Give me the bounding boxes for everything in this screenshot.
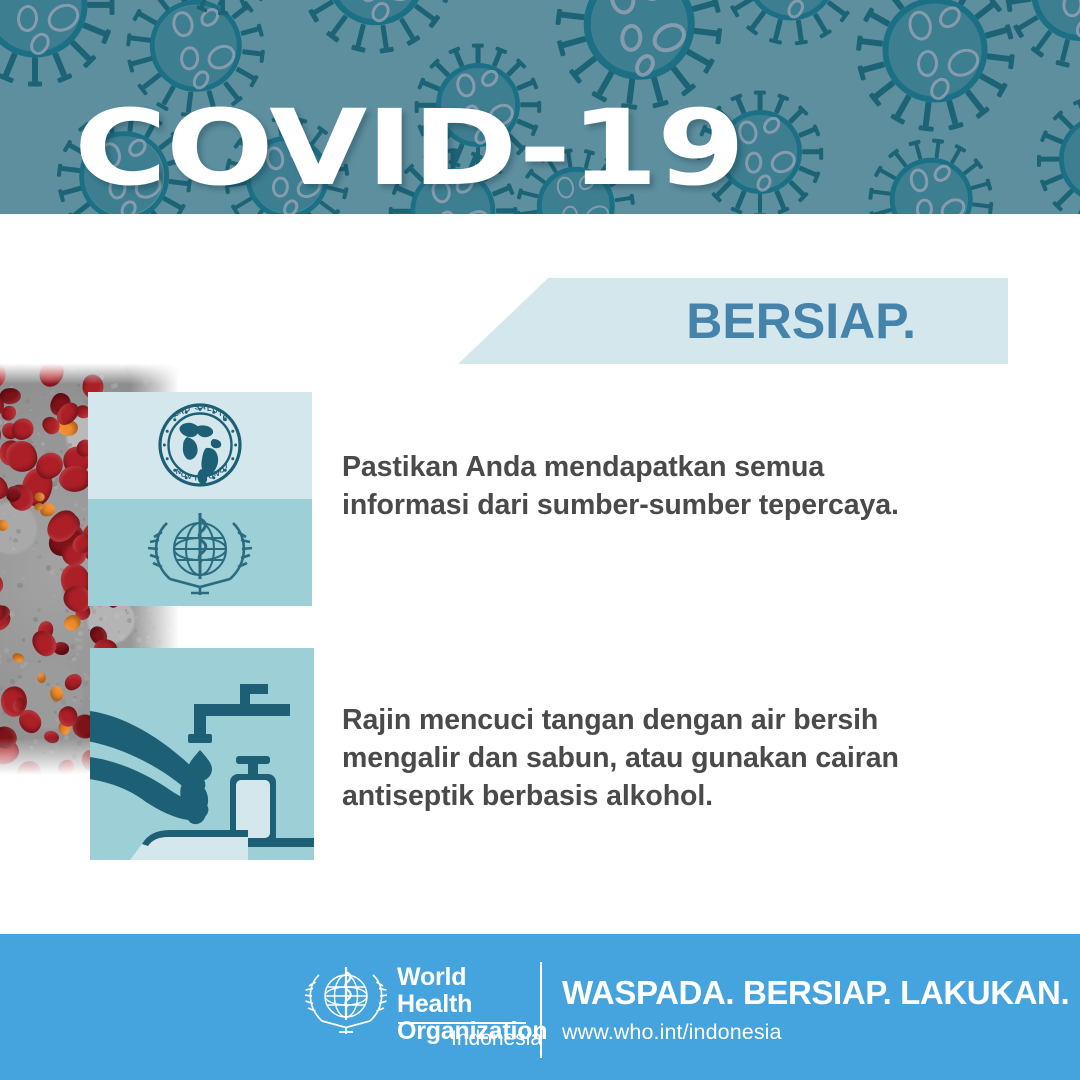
virus-spike bbox=[861, 61, 886, 73]
virus-spike bbox=[946, 100, 958, 125]
virus-spike bbox=[871, 189, 890, 196]
virus-grain-dot bbox=[25, 399, 30, 404]
virus-spike bbox=[399, 17, 415, 39]
virus-spike bbox=[331, 14, 349, 35]
virus-grain-dot bbox=[22, 577, 25, 580]
virus-grain-dot bbox=[76, 653, 79, 656]
virus-grain-dot bbox=[92, 609, 97, 614]
who-logo: World Health Organization Indonesia bbox=[305, 956, 527, 1060]
virus-grain-dot bbox=[83, 518, 86, 521]
virus-spike-cap bbox=[472, 44, 484, 48]
virus-spike-cap bbox=[768, 38, 781, 45]
virus-spike bbox=[758, 194, 763, 213]
trusted-sources-text: Pastikan Anda mendapatkan semua informas… bbox=[342, 449, 942, 525]
virus-spike bbox=[306, 211, 320, 214]
svg-text:I: I bbox=[195, 473, 198, 482]
virus-spike bbox=[812, 13, 827, 33]
virus-grain-dot bbox=[4, 648, 9, 653]
dispenser-bottle-body bbox=[236, 780, 270, 838]
virus-grain-dot bbox=[38, 660, 41, 663]
virus-spike-cap bbox=[988, 202, 993, 214]
virus-motif bbox=[872, 140, 990, 214]
handwashing-text: Rajin mencuci tangan dengan air bersih m… bbox=[342, 702, 1002, 816]
virus-spike bbox=[774, 190, 786, 209]
virus-spike bbox=[356, 24, 367, 47]
virus-spike-cap bbox=[1037, 155, 1041, 167]
virus-grain-dot bbox=[122, 632, 126, 636]
virus-grain-dot bbox=[65, 609, 69, 613]
footer-bar: World Health Organization Indonesia WASP… bbox=[0, 934, 1080, 1080]
virus-grain-dot bbox=[17, 583, 22, 588]
virus-grain-dot bbox=[119, 635, 125, 641]
virus-spike-cap bbox=[712, 0, 721, 13]
svg-text:I: I bbox=[225, 461, 228, 470]
virus-rna-squiggle bbox=[179, 45, 199, 70]
faucet-tip bbox=[188, 734, 212, 743]
virus-spike bbox=[958, 0, 975, 6]
virus-grain-dot bbox=[114, 613, 120, 619]
virus-spike-cap bbox=[442, 0, 450, 3]
virus-spike-cap bbox=[57, 73, 73, 83]
virus-spike-cap bbox=[986, 179, 993, 191]
who-emblem-panel bbox=[88, 499, 312, 606]
dispenser-nozzle bbox=[236, 756, 270, 764]
virus-grain-dot bbox=[12, 547, 16, 551]
virus-spike-cap bbox=[716, 28, 723, 44]
virus-spike bbox=[313, 0, 335, 16]
virus-grain-dot bbox=[2, 513, 4, 515]
virus-spike-cap bbox=[918, 125, 933, 132]
paho-seal-panel: P R O S A L U T E N O V I M U bbox=[88, 392, 312, 499]
virus-spike-cap bbox=[258, 0, 268, 2]
virus-grain-dot bbox=[70, 644, 75, 649]
virus-spike-cap bbox=[178, 0, 188, 2]
virus-grain-dot bbox=[77, 645, 83, 651]
virus-grain-dot bbox=[0, 660, 2, 664]
virus-spike-cap bbox=[819, 148, 823, 160]
virus-spike bbox=[1043, 174, 1063, 186]
virus-grain-dot bbox=[32, 548, 35, 551]
virus-grain-dot bbox=[50, 570, 55, 575]
virus-spike bbox=[153, 0, 170, 11]
virus-spike bbox=[773, 19, 783, 40]
svg-text:V: V bbox=[187, 472, 193, 481]
virus-grain-dot bbox=[24, 662, 28, 666]
virus-spike-cap bbox=[28, 82, 43, 87]
trusted-sources-icon: P R O S A L U T E N O V I M U bbox=[88, 392, 312, 606]
virus-spike bbox=[130, 56, 152, 66]
virus-spike bbox=[391, 209, 411, 214]
virus-grain-dot bbox=[74, 503, 78, 507]
virus-grain-dot bbox=[126, 612, 128, 614]
virus-grain-dot bbox=[37, 432, 40, 435]
virus-grain-dot bbox=[14, 516, 16, 518]
virus-spike bbox=[150, 210, 166, 214]
virus-grain-dot bbox=[41, 442, 45, 446]
virus-spike bbox=[249, 209, 264, 214]
handwashing-icon bbox=[90, 648, 314, 860]
virus-spike bbox=[561, 36, 587, 49]
virus-spike bbox=[923, 102, 932, 127]
virus-grain-dot bbox=[3, 571, 5, 573]
svg-text:E: E bbox=[223, 413, 229, 422]
virus-spike-cap bbox=[109, 0, 114, 15]
virus-spike bbox=[895, 94, 912, 118]
handwashing-illustration bbox=[90, 648, 314, 860]
virus-grain-dot bbox=[42, 394, 44, 396]
virus-spike-cap bbox=[56, 164, 62, 177]
virus-spike-cap bbox=[351, 45, 366, 53]
virus-grain-dot bbox=[16, 529, 21, 534]
who-logo-rule bbox=[398, 1022, 526, 1024]
virus-grain-dot bbox=[22, 638, 25, 641]
virus-spike-cap bbox=[777, 206, 789, 214]
virus-spike-cap bbox=[754, 213, 766, 214]
virus-spike-cap bbox=[257, 23, 265, 37]
who-emblem-icon bbox=[88, 499, 312, 606]
page-title: COVID-19 bbox=[74, 96, 744, 200]
who-emblem-logo-icon bbox=[305, 958, 387, 1040]
virus-grain-dot bbox=[30, 409, 32, 411]
virus-grain-dot bbox=[13, 538, 18, 543]
virus-spike-cap bbox=[379, 47, 394, 54]
virus-spike bbox=[519, 210, 537, 214]
virus-spike bbox=[1017, 15, 1039, 31]
virus-grain-dot bbox=[35, 541, 39, 545]
virus-spike bbox=[965, 90, 984, 112]
virus-spike bbox=[1009, 0, 1032, 5]
covid19-infographic-poster: COVID-19 BERSIAP. bbox=[0, 0, 1080, 1080]
virus-grain-dot bbox=[46, 683, 50, 687]
virus-grain-dot bbox=[119, 611, 124, 616]
virus-spike bbox=[3, 52, 17, 76]
virus-spike-cap bbox=[948, 122, 964, 131]
virus-spike bbox=[1035, 30, 1053, 51]
virus-grain-dot bbox=[56, 683, 58, 685]
virus-spike bbox=[381, 25, 390, 48]
virus-spike bbox=[574, 56, 598, 76]
virus-grain-dot bbox=[54, 711, 57, 714]
virus-spike bbox=[795, 20, 803, 41]
virus-grain-dot bbox=[0, 641, 1, 644]
virus-grain-dot bbox=[37, 555, 41, 559]
virus-grain-dot bbox=[125, 609, 127, 611]
virus-motif bbox=[1010, 0, 1080, 62]
virus-spike bbox=[559, 11, 585, 20]
virus-spike-cap bbox=[754, 91, 766, 95]
virus-grain-dot bbox=[18, 675, 22, 679]
virus-grain-dot bbox=[56, 573, 59, 576]
virus-spike-cap bbox=[932, 139, 944, 144]
virus-grain-dot bbox=[9, 537, 13, 541]
virus-spike bbox=[750, 10, 766, 30]
virus-grain-dot bbox=[10, 679, 15, 684]
virus-motif bbox=[1040, 96, 1080, 214]
virus-spike-cap bbox=[812, 124, 820, 136]
virus-spike bbox=[1076, 199, 1080, 214]
virus-grain-dot bbox=[77, 638, 81, 642]
virus-spike bbox=[129, 35, 151, 43]
virus-grain-dot bbox=[73, 698, 76, 701]
virus-grain-dot bbox=[67, 657, 70, 660]
footer-url[interactable]: www.who.int/indonesia bbox=[562, 1022, 782, 1044]
footer-divider bbox=[540, 962, 542, 1058]
virus-grain-dot bbox=[53, 595, 55, 597]
virus-grain-dot bbox=[80, 700, 82, 702]
banner-label: BERSIAP. bbox=[686, 292, 916, 350]
virus-grain-dot bbox=[8, 546, 10, 548]
virus-motif bbox=[305, 0, 447, 47]
virus-spike-cap bbox=[856, 35, 863, 50]
virus-grain-dot bbox=[77, 384, 80, 387]
virus-spike-cap bbox=[218, 11, 229, 15]
virus-grain-dot bbox=[44, 608, 46, 610]
who-name-line1: World Health bbox=[397, 964, 547, 1018]
virus-grain-dot bbox=[83, 681, 88, 686]
virus-grain-dot bbox=[33, 617, 38, 622]
virus-spike-cap bbox=[1055, 60, 1070, 68]
virus-grain-dot bbox=[118, 631, 120, 633]
virus-spike-cap bbox=[973, 158, 983, 170]
faucet-spout bbox=[194, 704, 290, 738]
virus-spike bbox=[872, 208, 891, 214]
header-banner: COVID-19 bbox=[0, 0, 1080, 214]
virus-motif bbox=[860, 0, 1010, 125]
virus-spike-cap bbox=[794, 40, 807, 46]
virus-spike bbox=[221, 0, 225, 11]
virus-spike bbox=[987, 54, 1012, 63]
virus-grain-dot bbox=[76, 650, 78, 652]
virus-grain-dot bbox=[78, 631, 83, 636]
virus-motif bbox=[726, 0, 856, 40]
virus-grain-dot bbox=[60, 450, 63, 453]
virus-grain-dot bbox=[37, 608, 41, 612]
virus-grain-dot bbox=[0, 419, 2, 424]
virus-grain-dot bbox=[83, 673, 85, 675]
footer-slogan: WASPADA. BERSIAP. LAKUKAN. bbox=[562, 976, 1069, 1009]
who-country-label: Indonesia bbox=[451, 1028, 542, 1049]
virus-spike bbox=[1060, 39, 1071, 62]
virus-spike-cap bbox=[260, 50, 266, 63]
virus-motif bbox=[168, 0, 278, 10]
virus-spike bbox=[886, 0, 905, 10]
virus-grain-dot bbox=[61, 699, 67, 705]
faucet-handle bbox=[240, 684, 268, 704]
virus-grain-dot bbox=[72, 657, 76, 661]
virus-spike bbox=[1039, 157, 1059, 162]
virus-spike bbox=[52, 52, 66, 76]
virus-spike bbox=[614, 213, 632, 214]
virus-spike-cap bbox=[819, 29, 832, 39]
virus-spike bbox=[88, 2, 112, 8]
virus-grain-dot bbox=[83, 508, 86, 511]
virus-spike bbox=[32, 58, 38, 82]
virus-grain-dot bbox=[0, 655, 1, 659]
paho-seal-icon: P R O S A L U T E N O V I M U bbox=[88, 392, 312, 499]
virus-grain-dot bbox=[7, 658, 12, 663]
virus-motif bbox=[0, 0, 110, 80]
section-banner: BERSIAP. bbox=[458, 278, 1008, 364]
svg-text:O: O bbox=[184, 405, 191, 414]
